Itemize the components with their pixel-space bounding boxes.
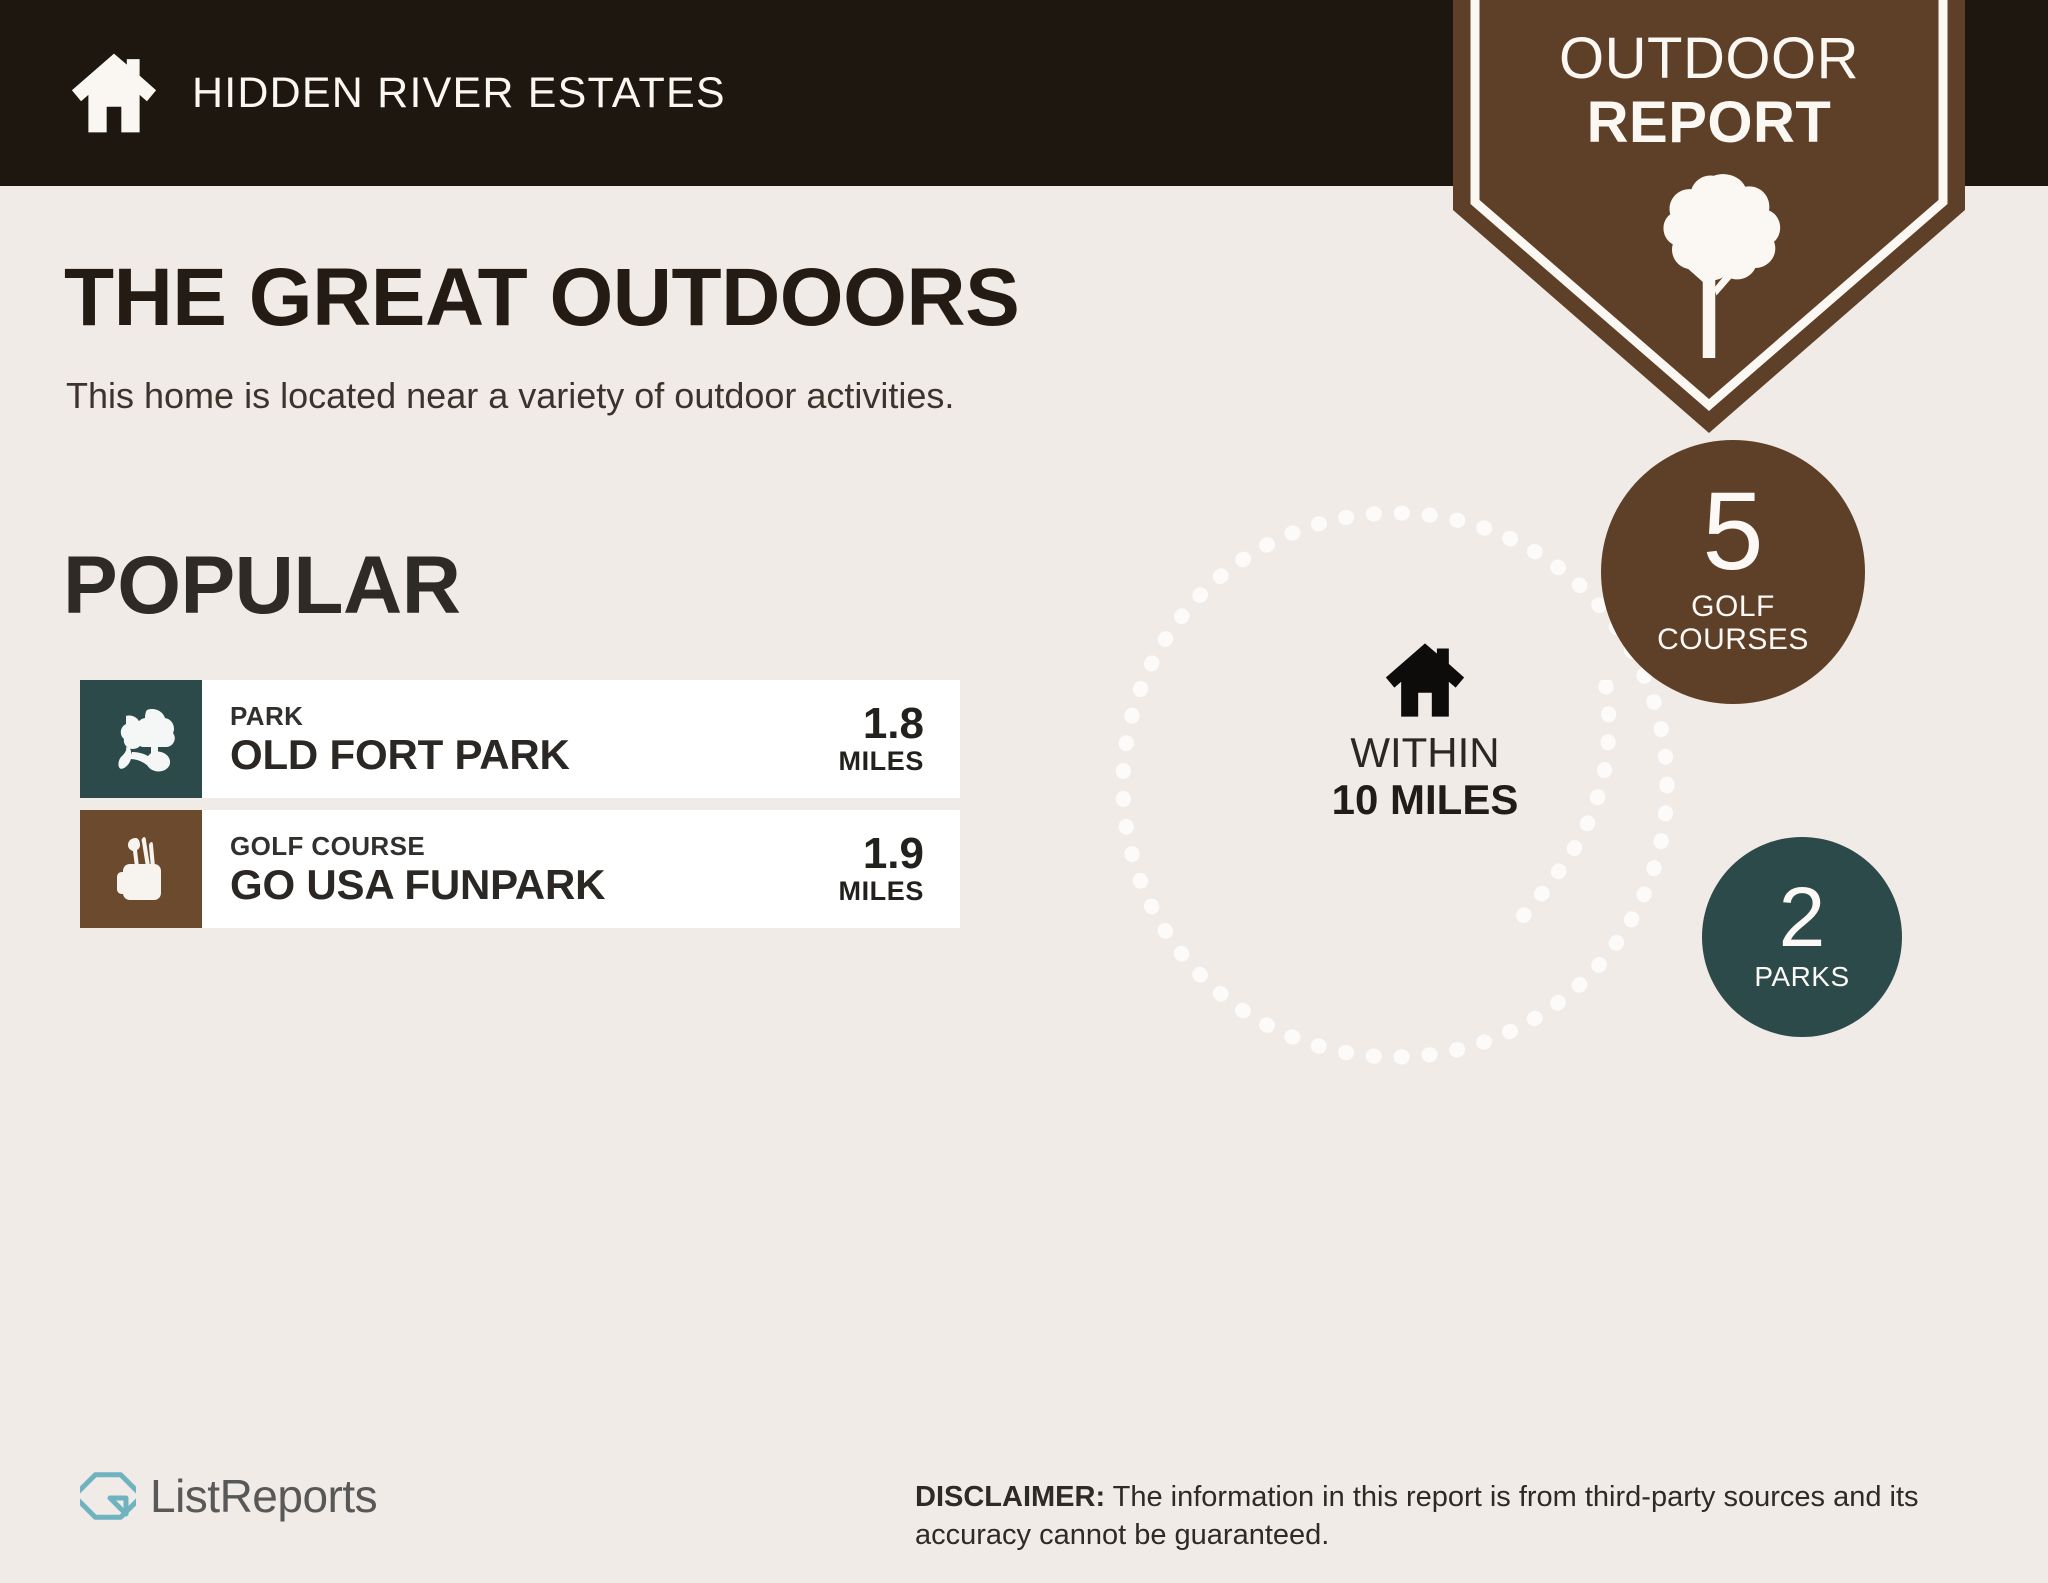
list-item-distance-unit: MILES <box>838 877 924 907</box>
page-title: THE GREAT OUTDOORS <box>64 257 1019 339</box>
stat-circle-parks: 2 PARKS <box>1702 837 1902 1037</box>
property-name: HIDDEN RIVER ESTATES <box>192 69 726 118</box>
within-10-miles-infographic: 5 GOLF COURSES 2 PARKS WITHIN 10 MILES <box>1070 455 1990 1285</box>
listreports-house-tag-icon <box>80 1468 136 1524</box>
badge-shape <box>1453 0 1965 433</box>
list-item-name: GO USA FUNPARK <box>230 862 605 908</box>
stat-label-line-1: GOLF <box>1691 590 1775 623</box>
section-heading-popular: POPULAR <box>63 545 460 627</box>
list-item-distance-value: 1.8 <box>838 701 924 747</box>
list-item[interactable]: PARK OLD FORT PARK 1.8 MILES <box>80 680 960 798</box>
list-item-text: PARK OLD FORT PARK <box>202 680 838 798</box>
stat-circle-golf-courses: 5 GOLF COURSES <box>1601 440 1865 704</box>
stat-label-line-1: PARKS <box>1754 962 1849 993</box>
center-label-line-1: WITHIN <box>1280 730 1570 776</box>
list-item-distance: 1.9 MILES <box>838 810 960 928</box>
disclaimer: DISCLAIMER: The information in this repo… <box>915 1478 1975 1555</box>
list-item-icon-tile <box>80 810 202 928</box>
stat-count: 5 <box>1702 480 1763 585</box>
center-home-marker: WITHIN 10 MILES <box>1280 640 1570 824</box>
list-item-distance-value: 1.9 <box>838 831 924 877</box>
list-item-distance: 1.8 MILES <box>838 680 960 798</box>
house-icon <box>1382 640 1468 720</box>
page-subtitle: This home is located near a variety of o… <box>66 378 954 414</box>
list-item-icon-tile <box>80 680 202 798</box>
list-item[interactable]: GOLF COURSE GO USA FUNPARK 1.9 MILES <box>80 810 960 928</box>
stat-count: 2 <box>1779 878 1826 958</box>
list-item-distance-unit: MILES <box>838 747 924 777</box>
outdoor-report-badge: OUTDOOR REPORT <box>1453 0 1965 433</box>
list-item-category: GOLF COURSE <box>230 830 605 863</box>
listreports-wordmark: ListReports <box>150 1469 377 1523</box>
popular-list: PARK OLD FORT PARK 1.8 MILES GOLF COURSE… <box>80 680 960 940</box>
listreports-logo[interactable]: ListReports <box>80 1468 377 1524</box>
center-label-line-2: 10 MILES <box>1280 776 1570 824</box>
house-icon <box>68 50 160 136</box>
list-item-name: OLD FORT PARK <box>230 732 570 778</box>
disclaimer-label: DISCLAIMER: <box>915 1481 1105 1513</box>
list-item-text: GOLF COURSE GO USA FUNPARK <box>202 810 838 928</box>
list-item-category: PARK <box>230 700 570 733</box>
stat-label-line-2: COURSES <box>1657 623 1809 656</box>
golf-bag-icon <box>106 834 176 904</box>
park-trees-icon <box>106 704 176 774</box>
